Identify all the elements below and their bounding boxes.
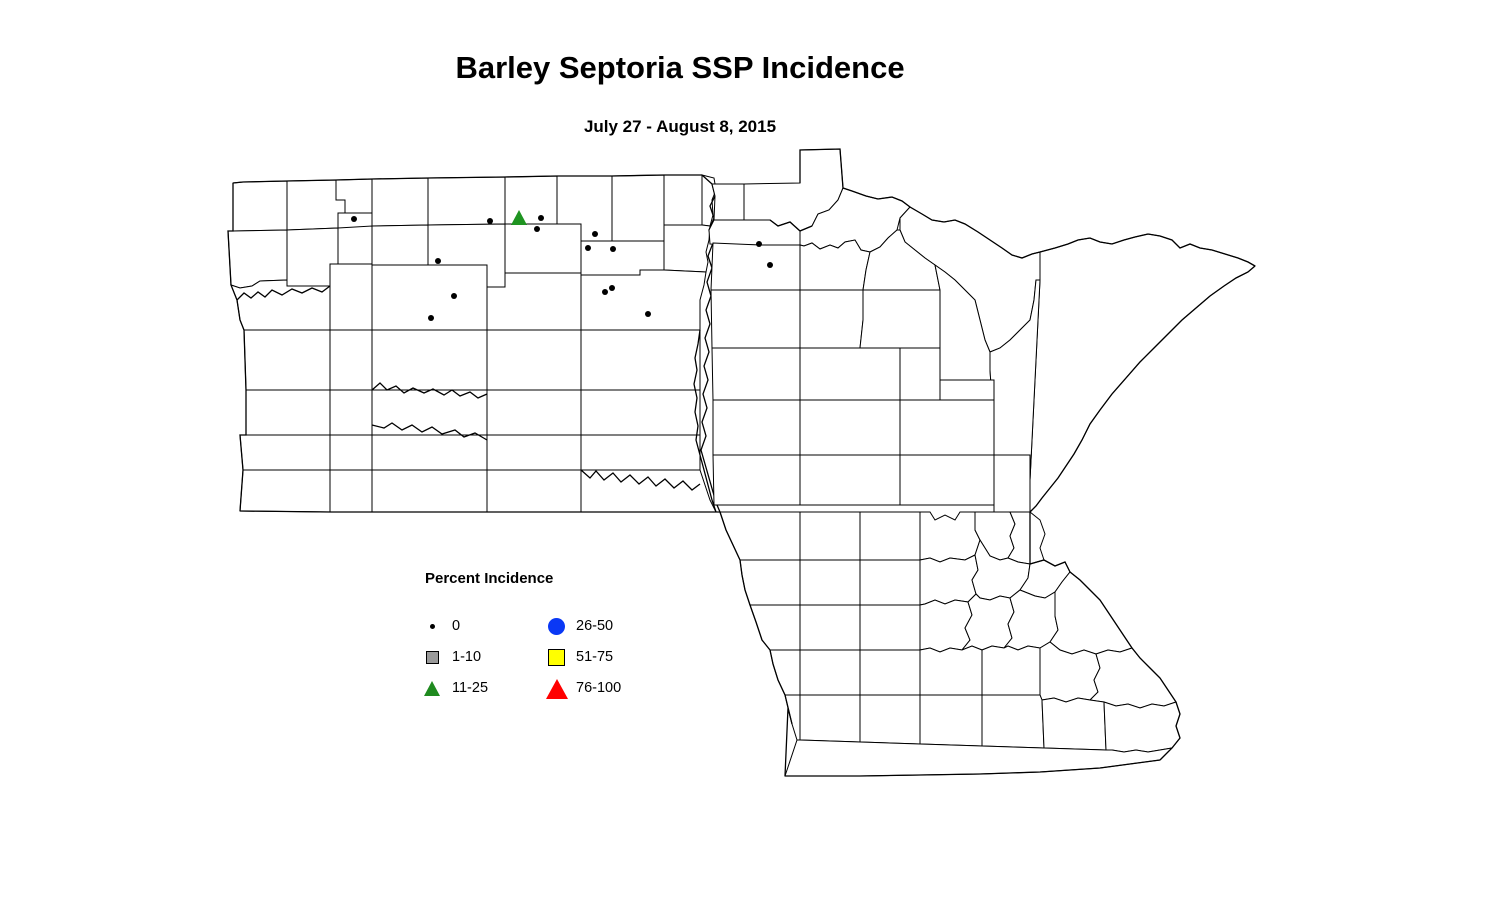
county-mn: [920, 512, 980, 562]
county-mn: [800, 240, 870, 290]
county-nd: [233, 181, 287, 231]
county-mn: [800, 455, 900, 505]
legend-item-0[interactable]: 0: [420, 610, 488, 641]
legend-item-26-50[interactable]: 26-50: [544, 610, 621, 641]
county-nd: [338, 226, 372, 264]
legend: Percent Incidence 0 1-10 11-25 26-50: [420, 570, 690, 700]
data-point-0[interactable]: [592, 231, 598, 237]
county-mn: [800, 605, 860, 650]
data-point-0[interactable]: [487, 218, 493, 224]
county-nd: [330, 330, 372, 390]
county-mn: [800, 560, 860, 605]
county-nd: [581, 270, 706, 330]
data-point-0[interactable]: [767, 262, 773, 268]
county-nd: [240, 470, 330, 512]
county-nd: [428, 177, 505, 225]
data-point-0[interactable]: [609, 285, 615, 291]
legend-gray-square-icon: [420, 644, 446, 670]
legend-yellow-square-icon: [544, 644, 570, 670]
data-point-0[interactable]: [534, 226, 540, 232]
county-nd: [228, 230, 287, 288]
county-nd: [372, 178, 428, 226]
county-nd: [330, 470, 372, 512]
legend-title: Percent Incidence: [425, 570, 553, 587]
county-mn: [860, 560, 920, 605]
data-point-0[interactable]: [435, 258, 441, 264]
county-nd: [372, 225, 428, 265]
county-mn: [711, 243, 800, 290]
legend-item-11-25[interactable]: 11-25: [420, 672, 488, 703]
legend-column-left: 0 1-10 11-25: [420, 610, 488, 703]
county-mn: [711, 290, 800, 348]
county-nd: [612, 175, 664, 241]
county-mn: [1104, 702, 1180, 752]
county-mn: [712, 348, 800, 400]
county-mn: [800, 400, 900, 455]
county-nd: [581, 330, 700, 390]
county-mn: [860, 290, 940, 348]
legend-label: 76-100: [576, 680, 621, 696]
county-mn: [994, 455, 1030, 512]
legend-item-51-75[interactable]: 51-75: [544, 641, 621, 672]
county-mn: [860, 512, 920, 560]
county-mn: [770, 650, 800, 695]
county-nd: [487, 390, 581, 435]
legend-item-76-100[interactable]: 76-100: [544, 672, 621, 703]
county-mn: [920, 555, 978, 605]
county-mn: [982, 646, 1040, 695]
county-mn: [800, 650, 860, 695]
legend-column-right: 26-50 51-75 76-100: [544, 610, 621, 703]
county-nd: [372, 330, 487, 390]
county-mn: [800, 512, 860, 560]
county-mn: [900, 455, 994, 505]
county-mn: [713, 400, 800, 455]
county-nd: [581, 435, 700, 470]
county-mn: [740, 560, 800, 605]
map-canvas: [0, 0, 1503, 900]
county-nd: [330, 390, 372, 435]
county-mn: [860, 605, 920, 650]
county-mn: [920, 695, 982, 746]
county-nd: [372, 435, 487, 470]
county-mn: [720, 512, 800, 560]
legend-label: 1-10: [452, 649, 481, 665]
data-point-0[interactable]: [585, 245, 591, 251]
county-mn: [900, 348, 940, 400]
data-point-0[interactable]: [610, 246, 616, 252]
legend-green-triangle-icon: [420, 675, 446, 701]
county-mn: [982, 695, 1044, 748]
data-point-0[interactable]: [451, 293, 457, 299]
county-nd: [372, 470, 487, 512]
county-nd: [581, 390, 700, 435]
county-mn: [860, 650, 920, 695]
legend-label: 0: [452, 618, 460, 634]
legend-label: 11-25: [452, 680, 488, 696]
county-mn: [1090, 648, 1176, 708]
county-mn: [1050, 572, 1132, 654]
county-nd: [240, 435, 330, 470]
county-nd: [664, 225, 710, 272]
legend-red-triangle-icon: [544, 675, 570, 701]
county-mn: [860, 695, 920, 744]
county-mn: [900, 400, 994, 455]
county-mn: [800, 695, 860, 742]
county-mn: [713, 455, 800, 505]
county-nd: [487, 435, 581, 470]
north-dakota-counties: [228, 175, 716, 512]
county-mn: [800, 348, 900, 400]
data-point-0[interactable]: [645, 311, 651, 317]
legend-item-1-10[interactable]: 1-10: [420, 641, 488, 672]
legend-label: 26-50: [576, 618, 613, 634]
county-nd: [487, 470, 581, 512]
county-mn: [920, 646, 982, 695]
county-nd: [246, 390, 330, 435]
county-nd: [231, 280, 330, 330]
county-nd: [487, 330, 581, 390]
data-point-0[interactable]: [351, 216, 357, 222]
data-point-0[interactable]: [602, 289, 608, 295]
data-point-0[interactable]: [428, 315, 434, 321]
minnesota-counties: [709, 149, 1255, 776]
county-nd: [505, 224, 581, 273]
county-nd: [330, 435, 372, 470]
states-map-svg: [0, 0, 1503, 900]
county-mn: [1008, 512, 1045, 564]
map-page: Barley Septoria SSP Incidence July 27 - …: [0, 0, 1503, 900]
county-mn: [920, 600, 972, 652]
data-point-0[interactable]: [756, 241, 762, 247]
county-mn: [712, 184, 744, 220]
legend-blue-circle-icon: [544, 613, 570, 639]
county-nd: [664, 175, 702, 225]
data-point-11-25[interactable]: [511, 210, 527, 225]
legend-label: 51-75: [576, 649, 613, 665]
county-mn: [800, 290, 863, 348]
county-mn: [962, 594, 1014, 650]
county-mn: [1042, 698, 1106, 750]
county-nd: [244, 330, 330, 390]
legend-dot-icon: [420, 613, 446, 639]
data-point-0[interactable]: [538, 215, 544, 221]
county-nd: [330, 264, 372, 330]
